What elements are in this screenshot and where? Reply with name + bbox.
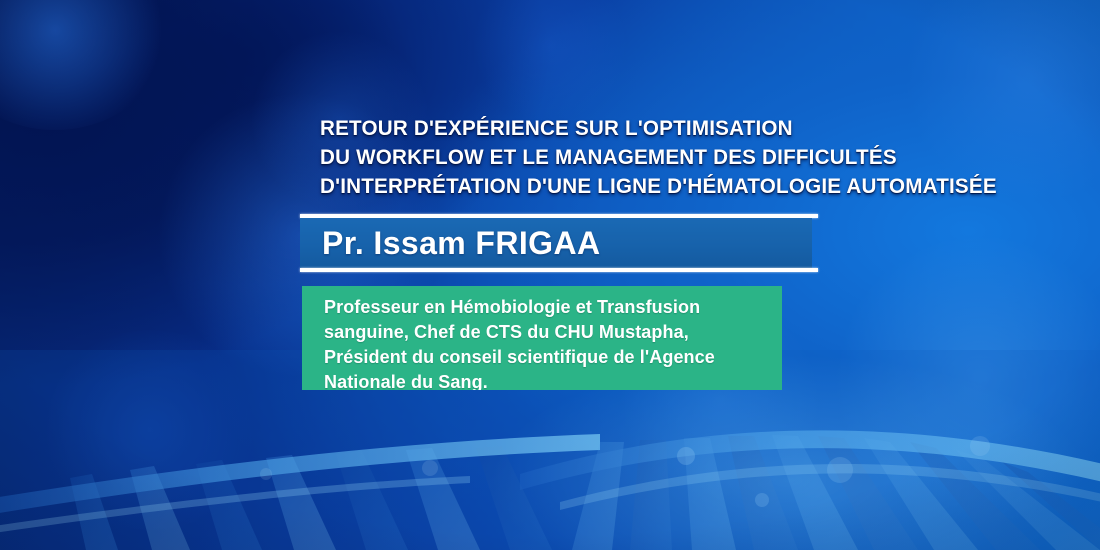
affiliation-line-2: sanguine, Chef de CTS du CHU Mustapha, (324, 320, 764, 345)
speaker-name-banner: Pr. Issam FRIGAA (300, 214, 818, 272)
banner-bottom-rule (300, 268, 818, 272)
presentation-title-slide: RETOUR D'EXPÉRIENCE SUR L'OPTIMISATION D… (0, 0, 1100, 550)
banner-body: Pr. Issam FRIGAA (300, 218, 812, 268)
title-line-1: RETOUR D'EXPÉRIENCE SUR L'OPTIMISATION (320, 114, 973, 143)
background-dark-left-shade (0, 0, 1100, 550)
title-line-3: D'INTERPRÉTATION D'UNE LIGNE D'HÉMATOLOG… (320, 172, 973, 201)
affiliation-line-4: Nationale du Sang. (324, 370, 764, 390)
presentation-title: RETOUR D'EXPÉRIENCE SUR L'OPTIMISATION D… (320, 114, 1000, 201)
affiliation-line-3: Président du conseil scientifique de l'A… (324, 345, 764, 370)
speaker-affiliation-text: Professeur en Hémobiologie et Transfusio… (324, 295, 764, 390)
speaker-affiliation-box: Professeur en Hémobiologie et Transfusio… (302, 286, 782, 390)
title-line-2: DU WORKFLOW ET LE MANAGEMENT DES DIFFICU… (320, 143, 973, 172)
affiliation-line-1: Professeur en Hémobiologie et Transfusio… (324, 295, 764, 320)
speaker-name: Pr. Issam FRIGAA (300, 225, 601, 262)
